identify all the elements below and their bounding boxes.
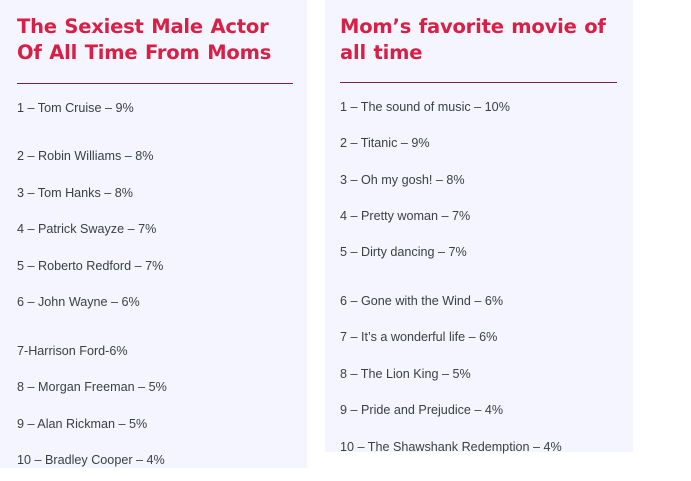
- list-item: 5 – Roberto Redford – 7%: [17, 259, 291, 274]
- ranking-list-actors: 1 – Tom Cruise – 9%2 – Robin Williams – …: [17, 101, 291, 468]
- list-item: 4 – Patrick Swayze – 7%: [17, 222, 291, 237]
- panel-moms-favorite-movie: Mom’s favorite movie of all time 1 – The…: [325, 0, 633, 452]
- list-item: 9 – Pride and Prejudice – 4%: [340, 403, 617, 418]
- list-item: 9 – Alan Rickman – 5%: [17, 417, 291, 432]
- heading-divider: [17, 83, 293, 84]
- list-item: 8 – Morgan Freeman – 5%: [17, 380, 291, 395]
- list-item: 5 – Dirty dancing – 7%: [340, 245, 617, 260]
- list-item: 7 – It’s a wonderful life – 6%: [340, 330, 617, 345]
- page-root: The Sexiest Male Actor Of All Time From …: [0, 0, 691, 481]
- list-item: 6 – John Wayne – 6%: [17, 295, 291, 310]
- list-item: 1 – Tom Cruise – 9%: [17, 101, 291, 116]
- panel-sexiest-male-actor: The Sexiest Male Actor Of All Time From …: [0, 0, 307, 468]
- list-item: 2 – Titanic – 9%: [340, 136, 617, 151]
- list-item: 3 – Tom Hanks – 8%: [17, 186, 291, 201]
- list-item: 3 – Oh my gosh! – 8%: [340, 173, 617, 188]
- list-item: 1 – The sound of music – 10%: [340, 100, 617, 115]
- list-item: 6 – Gone with the Wind – 6%: [340, 294, 617, 309]
- page-title: Mom’s favorite movie of all time: [340, 14, 617, 66]
- list-item: 10 – Bradley Cooper – 4%: [17, 453, 291, 468]
- list-item: 10 – The Shawshank Redemption – 4%: [340, 440, 617, 455]
- list-item: 7-Harrison Ford-6%: [17, 344, 291, 359]
- ranking-list-movies: 1 – The sound of music – 10%2 – Titanic …: [340, 100, 617, 455]
- page-title: The Sexiest Male Actor Of All Time From …: [17, 14, 291, 66]
- list-item: 4 – Pretty woman – 7%: [340, 209, 617, 224]
- list-item: 8 – The Lion King – 5%: [340, 367, 617, 382]
- list-item: 2 – Robin Williams – 8%: [17, 149, 291, 164]
- heading-divider: [340, 82, 617, 83]
